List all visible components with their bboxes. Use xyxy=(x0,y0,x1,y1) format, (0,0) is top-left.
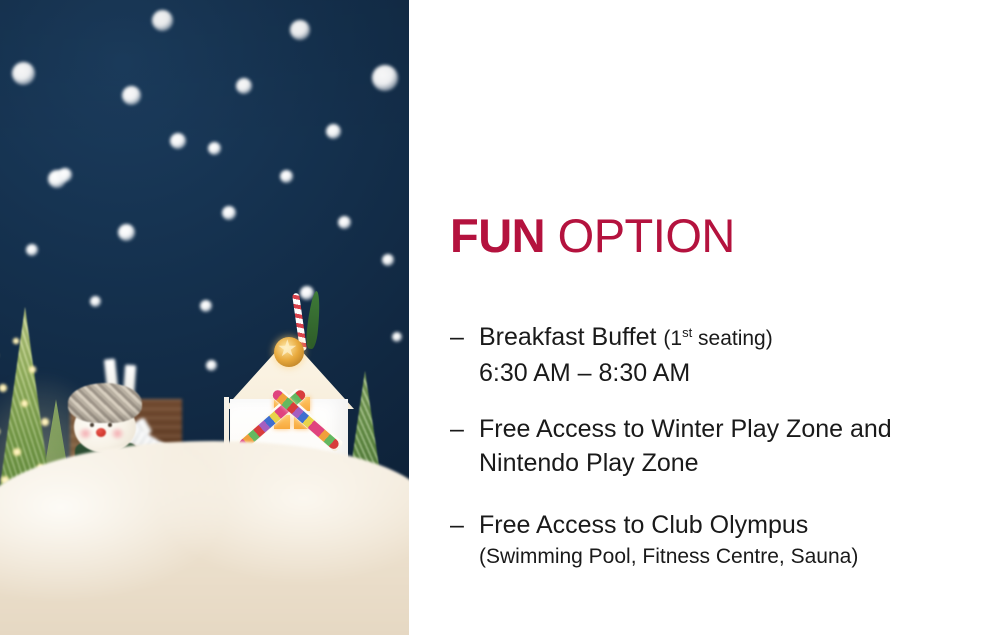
list-item-lines: Free Access to Winter Play Zone and Nint… xyxy=(450,412,970,480)
benefits-list: – Breakfast Buffet (1st seating) 6:30 AM… xyxy=(450,320,970,572)
list-item: – Free Access to Club Olympus (Swimming … xyxy=(450,508,970,572)
snowman-knit-hat xyxy=(68,383,142,423)
seating-note-close: seating) xyxy=(692,327,773,350)
slide-root: FUN OPTION – Breakfast Buffet (1st seati… xyxy=(0,0,1000,635)
fairy-light xyxy=(28,365,37,374)
page-title: FUN OPTION xyxy=(450,212,735,259)
club-olympus-facilities: (Swimming Pool, Fitness Centre, Sauna) xyxy=(479,542,970,572)
fairy-light xyxy=(12,337,20,345)
snowman-eye-right xyxy=(108,423,112,427)
breakfast-time-range: 6:30 AM – 8:30 AM xyxy=(479,356,970,390)
fairy-light xyxy=(20,399,29,408)
list-item-line-2: Nintendo Play Zone xyxy=(479,446,970,480)
list-item-line-1: Breakfast Buffet (1st seating) xyxy=(479,320,970,356)
list-item-line-1: Free Access to Club Olympus xyxy=(479,508,970,542)
bullet-dash: – xyxy=(450,320,464,354)
breakfast-buffet-label: Breakfast Buffet xyxy=(479,323,663,351)
list-item-lines: Free Access to Club Olympus (Swimming Po… xyxy=(450,508,970,572)
bullet-dash: – xyxy=(450,508,464,542)
seating-ordinal-suffix: st xyxy=(682,325,692,340)
amber-star-gem-icon xyxy=(274,337,304,367)
snowman-cheek-left xyxy=(78,428,93,439)
list-item-line-1: Free Access to Winter Play Zone and xyxy=(479,412,970,446)
list-item-lines: Breakfast Buffet (1st seating) 6:30 AM –… xyxy=(450,320,970,390)
bullet-dash: – xyxy=(450,412,464,446)
snowman-nose xyxy=(96,428,106,437)
list-item: – Free Access to Winter Play Zone and Ni… xyxy=(450,412,970,480)
snow-ground-front xyxy=(0,441,409,635)
page-title-light: OPTION xyxy=(545,209,735,262)
fairy-light xyxy=(0,383,8,393)
seating-note: (1st seating) xyxy=(663,327,772,350)
page-title-strong: FUN xyxy=(450,209,545,262)
fairy-light xyxy=(0,427,1,436)
fairy-light xyxy=(12,447,22,457)
snowman-cheek-right xyxy=(110,428,125,439)
snowman-eye-left xyxy=(90,423,94,427)
fairy-light xyxy=(40,417,50,427)
seating-note-open: (1 xyxy=(663,327,682,350)
text-content-panel: FUN OPTION – Breakfast Buffet (1st seati… xyxy=(409,0,1000,635)
christmas-scene-photo xyxy=(0,0,409,635)
list-item: – Breakfast Buffet (1st seating) 6:30 AM… xyxy=(450,320,970,390)
